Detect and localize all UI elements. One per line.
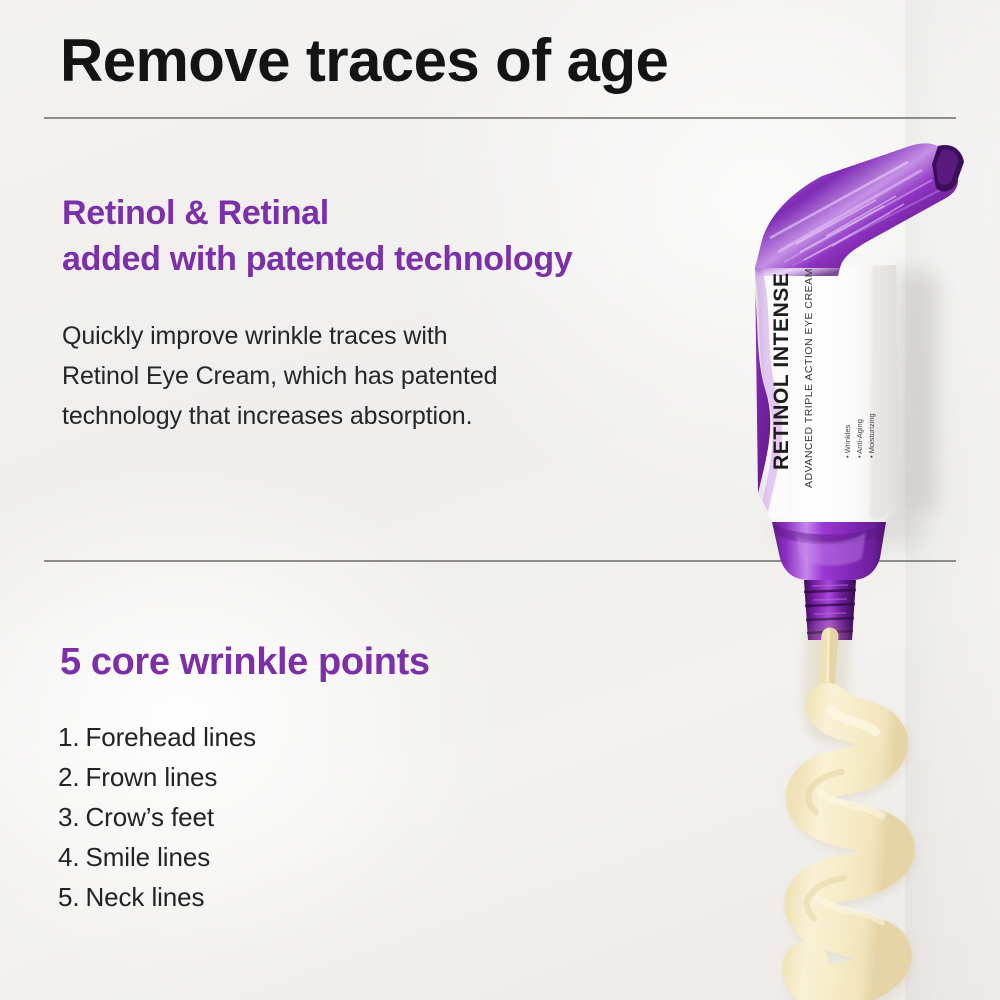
product-infographic-canvas: Remove traces of age Retinol & Retinal a…	[0, 0, 1000, 1000]
svg-text:• Moisturizing: • Moisturizing	[867, 413, 876, 458]
list-item: 1.Forehead lines	[58, 717, 256, 757]
list-item-number: 2.	[58, 762, 79, 792]
section-one-body-line1: Quickly improve wrinkle traces with	[62, 316, 497, 356]
svg-text:• Wrinkles: • Wrinkles	[843, 424, 852, 458]
list-item-number: 3.	[58, 802, 79, 832]
wrinkle-points-list: 1.Forehead lines 2.Frown lines 3.Crow’s …	[58, 717, 256, 917]
divider-top	[44, 117, 956, 119]
list-item-label: Frown lines	[85, 762, 217, 792]
list-item-label: Neck lines	[85, 882, 204, 912]
svg-text:• Anti-Aging: • Anti-Aging	[855, 419, 864, 458]
section-one-heading-line2: added with patented technology	[62, 236, 572, 282]
section-two-heading: 5 core wrinkle points	[60, 637, 430, 687]
section-one-body: Quickly improve wrinkle traces with Reti…	[62, 316, 497, 436]
section-one-heading: Retinol & Retinal added with patented te…	[62, 190, 572, 282]
list-item: 3.Crow’s feet	[58, 797, 256, 837]
tube-descriptor-line: ADVANCED TRIPLE ACTION EYE CREAM	[803, 268, 815, 488]
section-one-body-line3: technology that increases absorption.	[62, 396, 497, 436]
list-item: 5.Neck lines	[58, 877, 256, 917]
tube-crimped-top	[755, 143, 964, 276]
cream-swirl	[805, 636, 894, 991]
list-item-label: Smile lines	[85, 842, 210, 872]
list-item: 2.Frown lines	[58, 757, 256, 797]
list-item-number: 4.	[58, 842, 79, 872]
list-item: 4.Smile lines	[58, 837, 256, 877]
list-item-label: Crow’s feet	[85, 802, 213, 832]
section-one-body-line2: Retinol Eye Cream, which has patented	[62, 356, 497, 396]
tube-brand-line: RETINOL INTENSE	[770, 272, 793, 470]
section-one-heading-line1: Retinol & Retinal	[62, 190, 572, 236]
page-title: Remove traces of age	[60, 26, 668, 96]
product-photo: RETINOL INTENSE ADVANCED TRIPLE ACTION E…	[700, 140, 1000, 1000]
list-item-number: 5.	[58, 882, 79, 912]
list-item-number: 1.	[58, 722, 79, 752]
tube-cap	[772, 522, 886, 580]
list-item-label: Forehead lines	[85, 722, 256, 752]
